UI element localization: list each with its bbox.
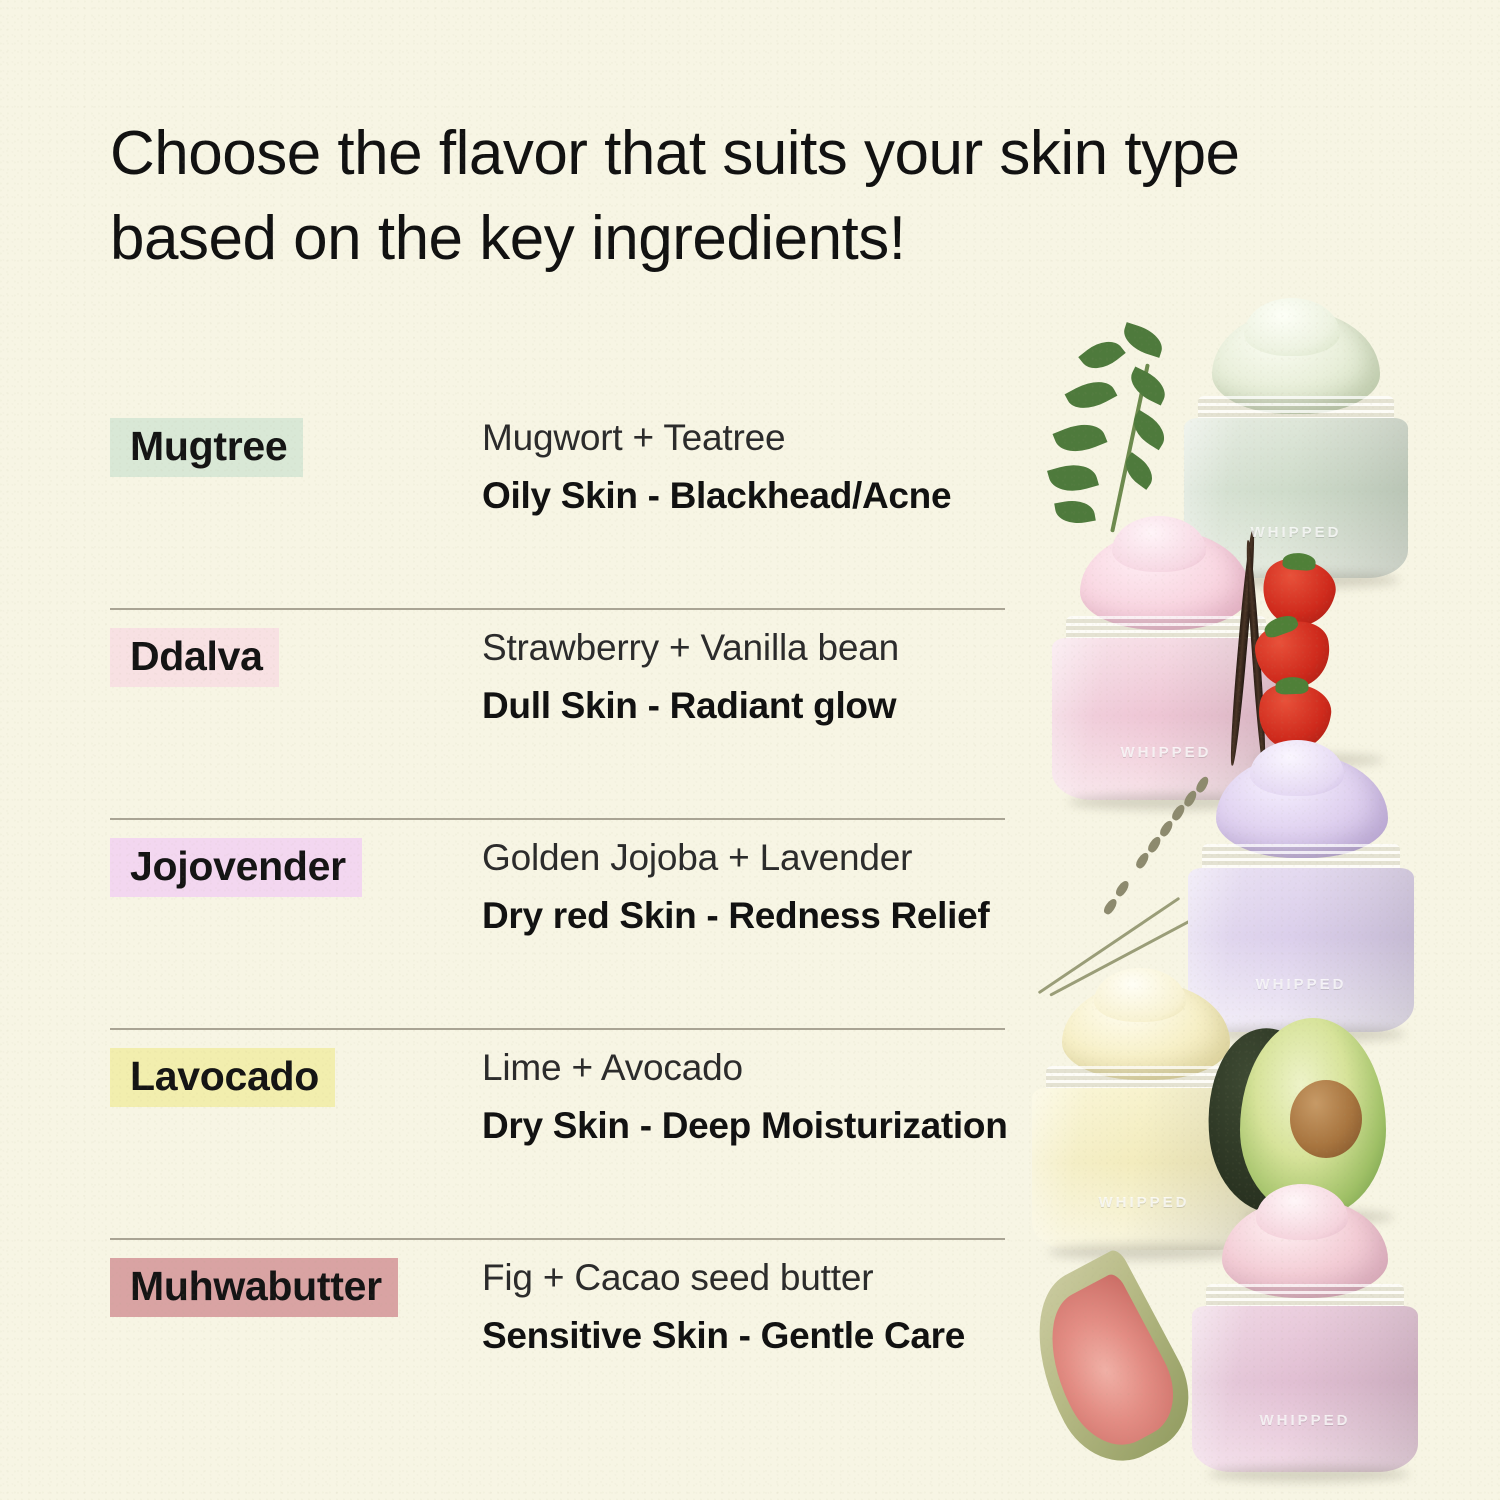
flavor-row-mugtree[interactable]: Mugtree Mugwort + Teatree Oily Skin - Bl… [110,398,1010,608]
flavor-info-cell: Golden Jojoba + Lavender Dry red Skin - … [482,832,1010,940]
flavor-ingredients: Strawberry + Vanilla bean [482,624,1010,673]
jar-emboss-label: WHIPPED [1052,744,1280,761]
row-divider [110,1238,1005,1240]
headline-line-2: based on the key ingredients! [110,197,1420,282]
headline-line-1: Choose the flavor that suits your skin t… [110,119,1240,188]
flavor-ingredients: Golden Jojoba + Lavender [482,834,1010,883]
flavor-list: Mugtree Mugwort + Teatree Oily Skin - Bl… [110,398,1010,1448]
flavor-info-cell: Strawberry + Vanilla bean Dull Skin - Ra… [482,622,1010,730]
flavor-name-badge: Lavocado [110,1048,335,1107]
flavor-info-cell: Mugwort + Teatree Oily Skin - Blackhead/… [482,412,1010,520]
flavor-name-badge: Mugtree [110,418,303,477]
flavor-name-cell: Jojovender [110,832,482,897]
flavor-ingredients: Mugwort + Teatree [482,414,1010,463]
flavor-name-badge: Ddalva [110,628,279,687]
flavor-row-muhwabutter[interactable]: Muhwabutter Fig + Cacao seed butter Sens… [110,1238,1010,1448]
flavor-benefit: Sensitive Skin - Gentle Care [482,1311,1010,1361]
flavor-ingredients: Fig + Cacao seed butter [482,1254,1010,1303]
flavor-name-badge: Jojovender [110,838,362,897]
row-divider [110,1028,1005,1030]
flavor-row-jojovender[interactable]: Jojovender Golden Jojoba + Lavender Dry … [110,818,1010,1028]
jar-emboss-label: WHIPPED [1188,976,1414,993]
product-image-muhwabutter: WHIPPED [1030,1190,1450,1490]
flavor-benefit: Dull Skin - Radiant glow [482,681,1010,731]
row-divider [110,818,1005,820]
flavor-info-cell: Lime + Avocado Dry Skin - Deep Moisturiz… [482,1042,1010,1150]
flavor-name-cell: Muhwabutter [110,1252,482,1317]
product-image-column: WHIPPED WHIPPED [1010,300,1500,1500]
jar-emboss-label: WHIPPED [1192,1412,1418,1429]
whipped-jar: WHIPPED [1170,1204,1438,1486]
flavor-name-cell: Ddalva [110,622,482,687]
flavor-name-badge: Muhwabutter [110,1258,398,1317]
jar-emboss-label: WHIPPED [1184,524,1408,541]
flavor-name-cell: Mugtree [110,412,482,477]
flavor-benefit: Oily Skin - Blackhead/Acne [482,471,1010,521]
row-divider [110,608,1005,610]
flavor-benefit: Dry red Skin - Redness Relief [482,891,1010,941]
flavor-ingredients: Lime + Avocado [482,1044,1010,1093]
flavor-name-cell: Lavocado [110,1042,482,1107]
flavor-info-cell: Fig + Cacao seed butter Sensitive Skin -… [482,1252,1010,1360]
flavor-row-ddalva[interactable]: Ddalva Strawberry + Vanilla bean Dull Sk… [110,608,1010,818]
jar-emboss-label: WHIPPED [1032,1194,1256,1211]
flavor-row-lavocado[interactable]: Lavocado Lime + Avocado Dry Skin - Deep … [110,1028,1010,1238]
flavor-benefit: Dry Skin - Deep Moisturization [482,1101,1010,1151]
page-headline: Choose the flavor that suits your skin t… [110,112,1420,282]
